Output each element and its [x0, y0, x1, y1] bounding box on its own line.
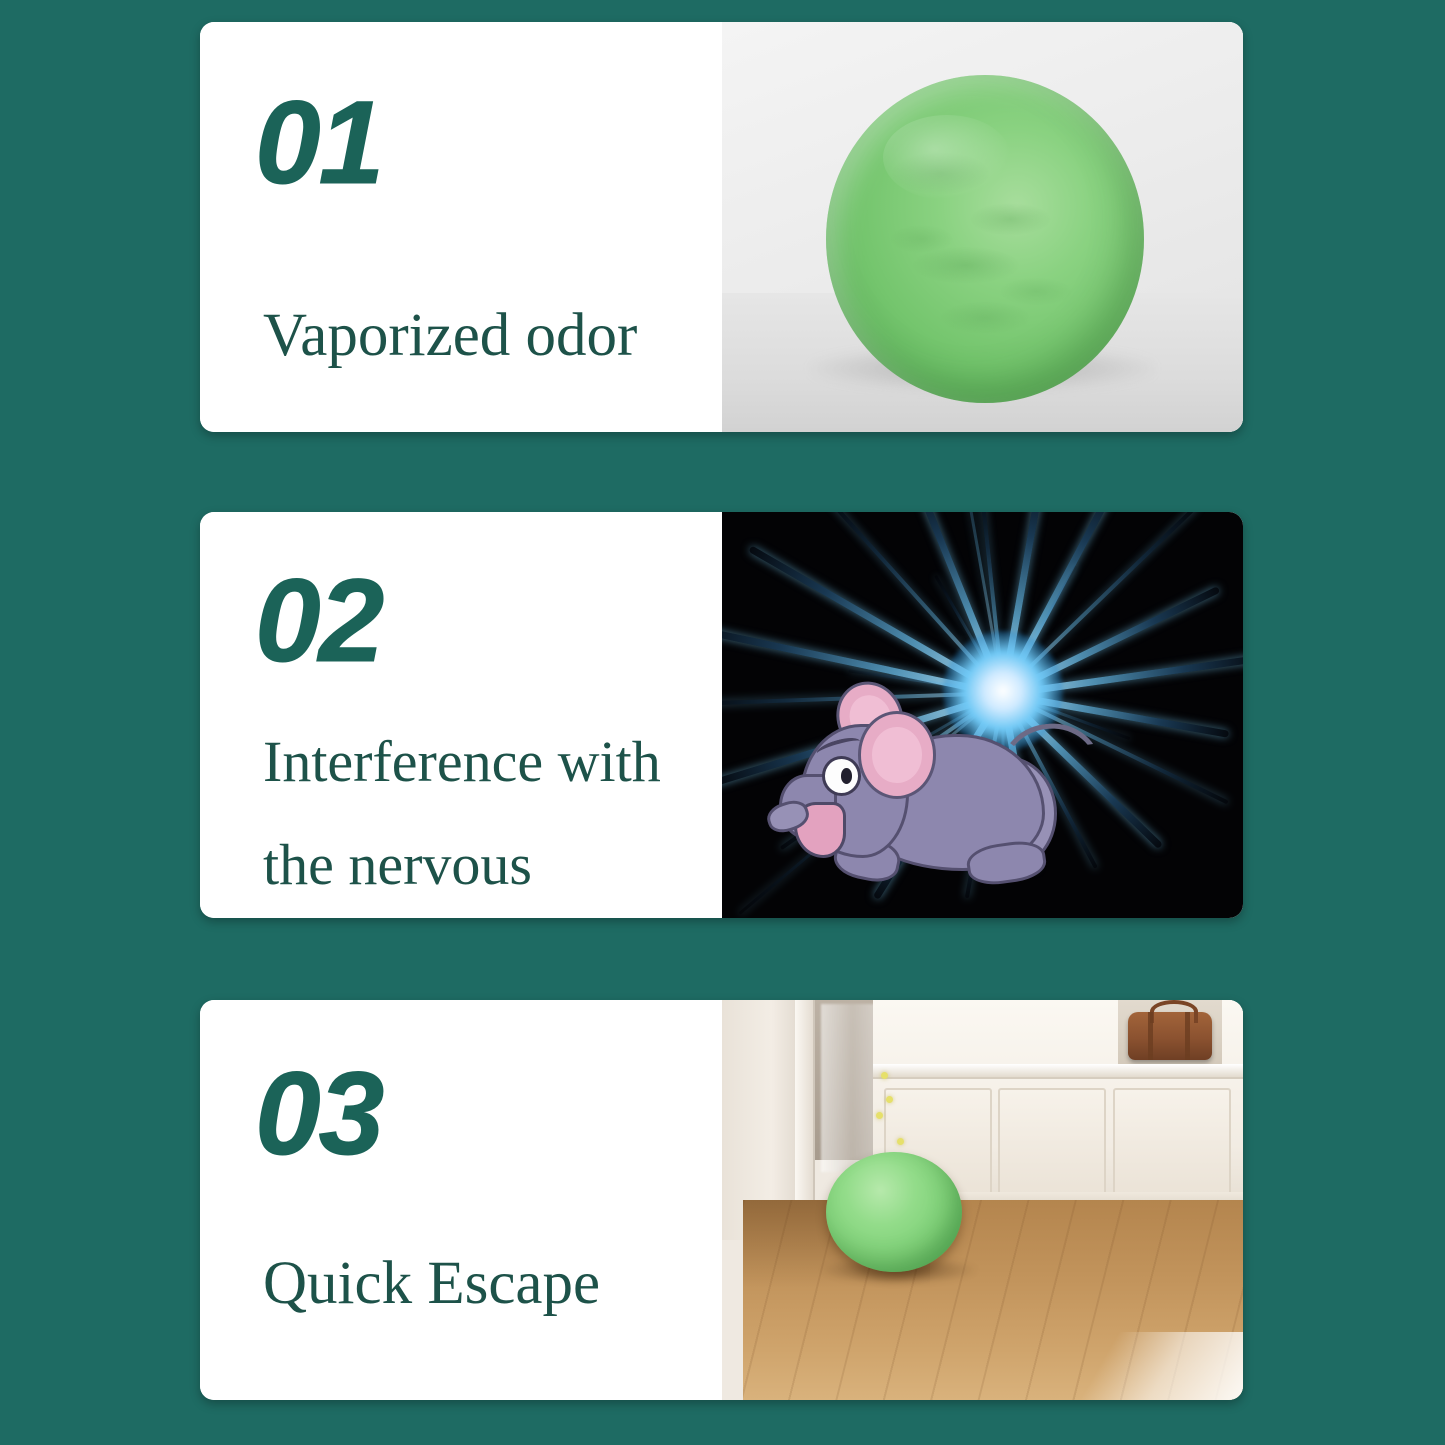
mouse-pupil — [841, 768, 852, 784]
cabinet-panel — [1113, 1088, 1232, 1196]
card-3-number: 03 — [255, 1055, 382, 1173]
mouse-eye — [822, 756, 861, 796]
cabinet-counter-edge — [873, 1064, 1243, 1079]
bag-handle — [1150, 1000, 1198, 1023]
sparkle-dot — [897, 1138, 904, 1145]
card-3-text-panel: 03 Quick Escape — [200, 1000, 722, 1400]
ball-highlight — [883, 115, 1010, 200]
card-1-caption: Vaporized odor — [263, 284, 706, 387]
leather-bag — [1128, 1012, 1211, 1060]
card-2-photo-panel — [722, 512, 1243, 918]
card-3-photo-panel — [722, 1000, 1243, 1400]
mouse-ear-inner — [872, 727, 921, 783]
green-deodorizer-ball-photo — [722, 22, 1243, 432]
cabinet-panel — [998, 1088, 1106, 1196]
feature-card-2: 02 Interference with the nervous system — [200, 512, 1243, 918]
card-2-text-panel: 02 Interference with the nervous system — [200, 512, 722, 918]
cartoon-mouse — [779, 674, 1081, 901]
mouse-ear-front — [858, 711, 937, 799]
green-ball-on-floor — [826, 1152, 961, 1272]
infographic-stage: 01 Vaporized odor 02 Interference with t… — [0, 0, 1445, 1445]
card-2-number: 02 — [255, 562, 382, 680]
feature-card-3: 03 Quick Escape — [200, 1000, 1243, 1400]
feature-card-1: 01 Vaporized odor — [200, 22, 1243, 432]
neuron-mouse-illustration — [722, 512, 1243, 918]
floor-sunlight — [1073, 1332, 1243, 1400]
green-ball — [826, 75, 1144, 403]
sparkle-dot — [876, 1112, 883, 1119]
card-2-caption: Interference with the nervous system — [263, 710, 706, 918]
bag-strap — [1185, 1012, 1190, 1060]
bag-strap — [1148, 1012, 1153, 1060]
sparkle-dot — [881, 1072, 888, 1079]
card-1-photo-panel — [722, 22, 1243, 432]
card-3-caption: Quick Escape — [263, 1232, 706, 1335]
card-1-number: 01 — [255, 84, 382, 202]
card-1-text-panel: 01 Vaporized odor — [200, 22, 722, 432]
room-with-ball-photo — [722, 1000, 1243, 1400]
